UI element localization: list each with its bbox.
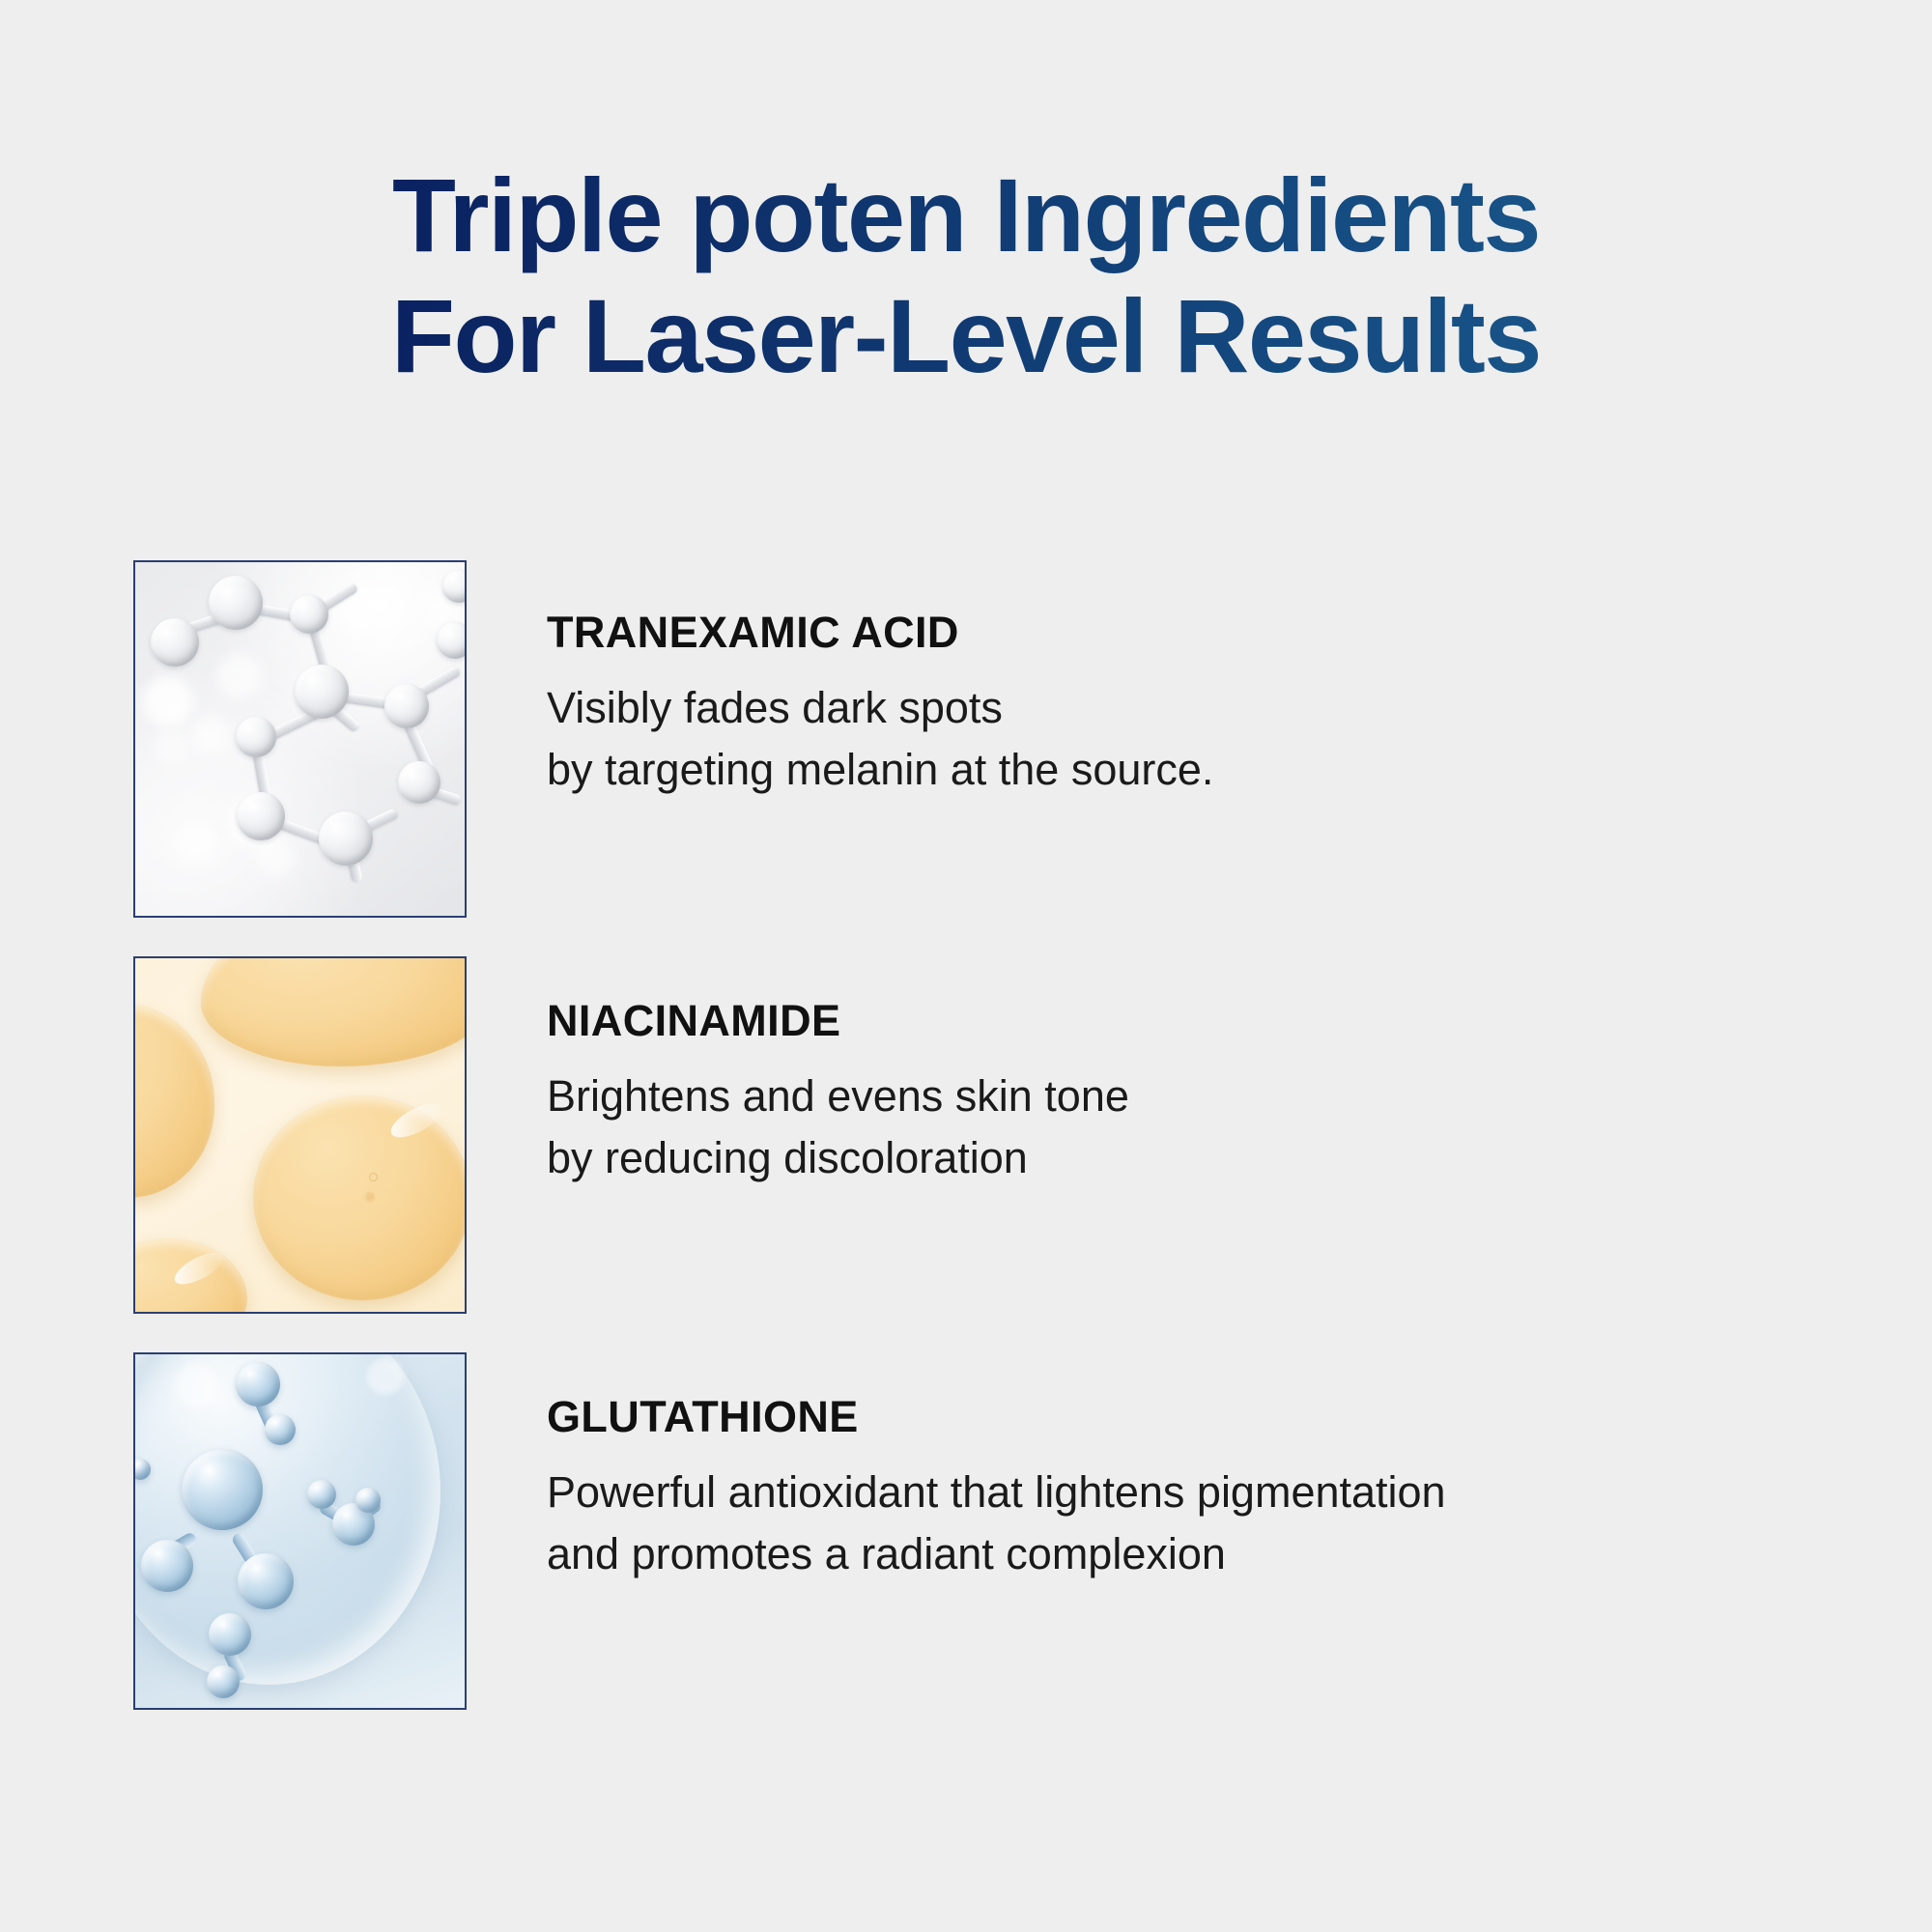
ingredient-name: TRANEXAMIC ACID: [547, 611, 1213, 654]
ingredient-description: Visibly fades dark spots by targeting me…: [547, 677, 1213, 801]
ingredient-row-niacinamide: NIACINAMIDE Brightens and evens skin ton…: [133, 956, 1833, 1314]
ingredient-row-glutathione: GLUTATHIONE Powerful antioxidant that li…: [133, 1352, 1833, 1710]
ingredient-name: GLUTATHIONE: [547, 1395, 1446, 1438]
clear-molecule-lattice-image: [133, 560, 467, 918]
title-line-1: Triple poten Ingredients: [0, 155, 1932, 275]
ingredient-name: NIACINAMIDE: [547, 999, 1129, 1042]
ingredient-description: Powerful antioxidant that lightens pigme…: [547, 1462, 1446, 1585]
title-line-2: For Laser-Level Results: [0, 275, 1932, 396]
ingredient-text-block: TRANEXAMIC ACID Visibly fades dark spots…: [547, 560, 1213, 801]
ingredient-text-block: GLUTATHIONE Powerful antioxidant that li…: [547, 1352, 1446, 1585]
page-title: Triple poten Ingredients For Laser-Level…: [0, 155, 1932, 397]
blue-molecules-bubble-image: [133, 1352, 467, 1710]
ingredients-infographic: Triple poten Ingredients For Laser-Level…: [0, 0, 1932, 1932]
ingredient-row-tranexamic-acid: TRANEXAMIC ACID Visibly fades dark spots…: [133, 560, 1833, 918]
golden-serum-droplets-image: [133, 956, 467, 1314]
ingredient-text-block: NIACINAMIDE Brightens and evens skin ton…: [547, 956, 1129, 1189]
ingredient-description: Brightens and evens skin tone by reducin…: [547, 1065, 1129, 1189]
